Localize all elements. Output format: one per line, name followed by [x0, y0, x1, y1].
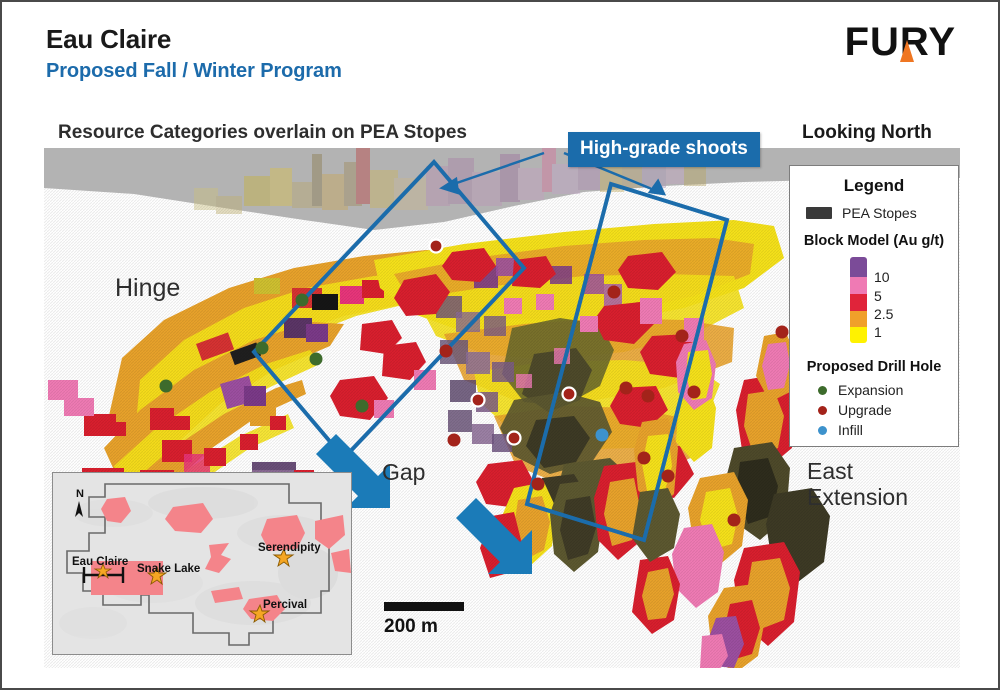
inset-property-map: N Eau Claire Snake Lake Serendipity Perc… — [52, 472, 352, 655]
legend-drill-hole-title: Proposed Drill Hole — [790, 359, 958, 375]
ramp-tick-1: 1 — [874, 324, 882, 340]
scale-bar: 200 m — [384, 602, 464, 638]
block-model-color-scale: 10 5 2.5 1 — [814, 257, 934, 343]
ramp-band-1 — [850, 311, 867, 327]
scale-bar-label: 200 m — [384, 616, 464, 638]
ramp-band-2p5 — [850, 294, 867, 311]
scale-bar-line — [384, 602, 464, 611]
page-title: Eau Claire — [46, 24, 171, 55]
compass-north-label: N — [76, 488, 84, 500]
legend-expansion-label: Expansion — [838, 382, 903, 398]
page-subtitle: Proposed Fall / Winter Program — [46, 60, 342, 83]
legend-title: Legend — [790, 176, 958, 196]
legend-panel: Legend PEA Stopes Block Model (Au g/t) 1… — [789, 165, 959, 447]
legend-row-pea-stopes: PEA Stopes — [806, 205, 958, 221]
ramp-band-0 — [850, 327, 867, 343]
inset-map-svg: N Eau Claire Snake Lake Serendipity Perc… — [53, 473, 351, 654]
map-label-east-line2: Extension — [807, 485, 908, 511]
map-caption-right: Looking North — [802, 122, 932, 144]
inset-label-serendipity: Serendipity — [258, 542, 321, 554]
drill-dots-infill — [596, 429, 609, 442]
map-caption-left: Resource Categories overlain on PEA Stop… — [58, 122, 467, 144]
legend-block-model-title: Block Model (Au g/t) — [790, 233, 958, 249]
logo-triangle-accent-icon — [900, 40, 914, 62]
legend-row-infill: Infill — [806, 422, 958, 438]
expansion-dot-icon — [818, 386, 827, 395]
high-grade-shoots-callout: High-grade shoots — [568, 132, 760, 167]
legend-pea-stopes-label: PEA Stopes — [842, 205, 917, 221]
ramp-tick-2p5: 2.5 — [874, 306, 893, 322]
inset-label-percival: Percival — [263, 599, 307, 611]
upgrade-dot-icon — [818, 406, 827, 415]
inset-label-eau-claire: Eau Claire — [72, 556, 128, 568]
infill-dot-icon — [818, 426, 827, 435]
legend-infill-label: Infill — [838, 422, 863, 438]
legend-row-expansion: Expansion — [806, 382, 958, 398]
map-label-hinge: Hinge — [115, 274, 180, 303]
legend-upgrade-label: Upgrade — [838, 402, 892, 418]
ramp-band-10 — [850, 257, 867, 277]
ramp-tick-10: 10 — [874, 269, 890, 285]
ramp-band-5 — [850, 277, 867, 294]
color-ramp — [850, 257, 867, 343]
ramp-tick-5: 5 — [874, 288, 882, 304]
map-label-east-extension: East Extension — [807, 459, 908, 511]
inset-label-snake-lake: Snake Lake — [137, 563, 200, 575]
slide-root: Eau Claire Proposed Fall / Winter Progra… — [0, 0, 1000, 690]
legend-row-upgrade: Upgrade — [806, 402, 958, 418]
color-ramp-ticks: 10 5 2.5 1 — [874, 257, 934, 343]
map-label-east-line1: East — [807, 459, 908, 485]
pea-stopes-swatch-icon — [806, 207, 832, 219]
map-label-gap: Gap — [382, 459, 425, 486]
fury-logo: FURY — [845, 20, 956, 64]
